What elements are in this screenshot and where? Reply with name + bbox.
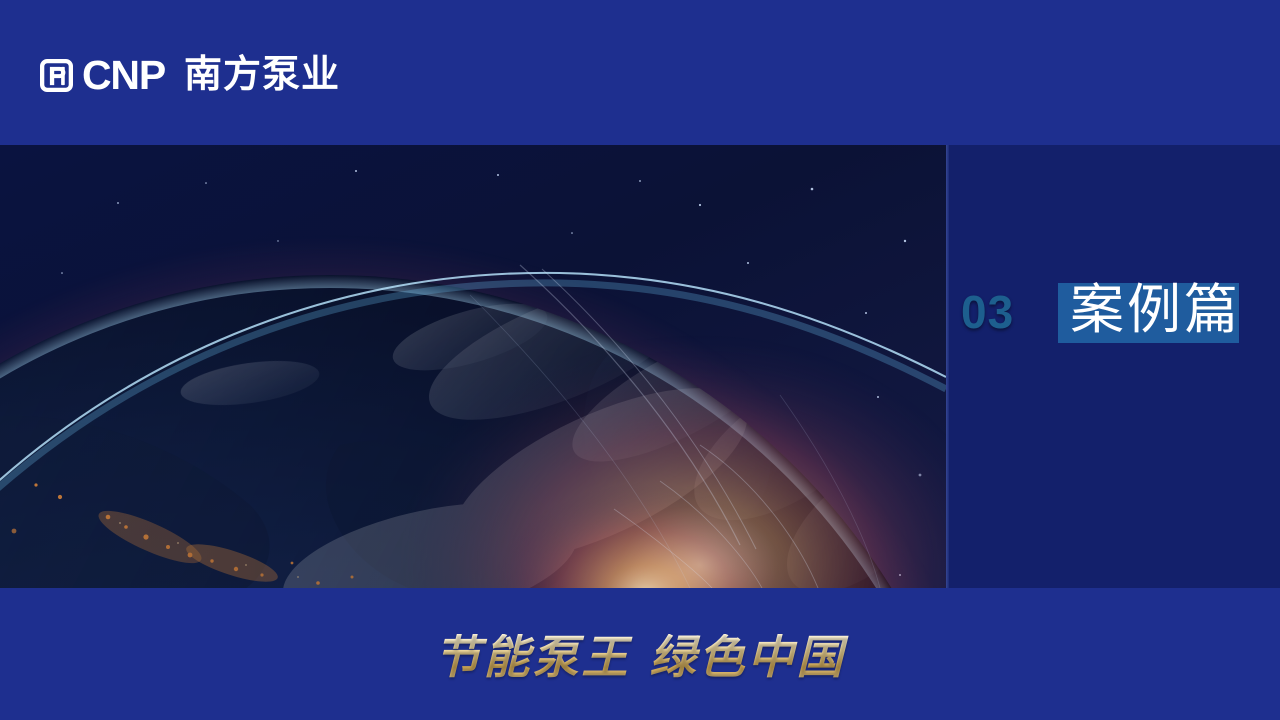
header-band: CNP 南方泵业	[0, 0, 1280, 145]
presentation-slide: CNP 南方泵业	[0, 0, 1280, 720]
logo-chinese-text: 南方泵业	[184, 56, 340, 94]
company-logo[interactable]: CNP 南方泵业	[40, 52, 340, 98]
cnp-logo-mark-icon	[40, 59, 73, 92]
section-title: 案例篇	[1070, 282, 1241, 339]
section-number: 03	[961, 289, 1014, 335]
company-slogan: 节能泵王 绿色中国	[0, 634, 1280, 680]
earth-from-space-image	[0, 145, 946, 588]
logo-latin-text: CNP	[82, 55, 165, 96]
section-panel	[949, 145, 1280, 588]
earth-image-panel	[0, 145, 946, 588]
